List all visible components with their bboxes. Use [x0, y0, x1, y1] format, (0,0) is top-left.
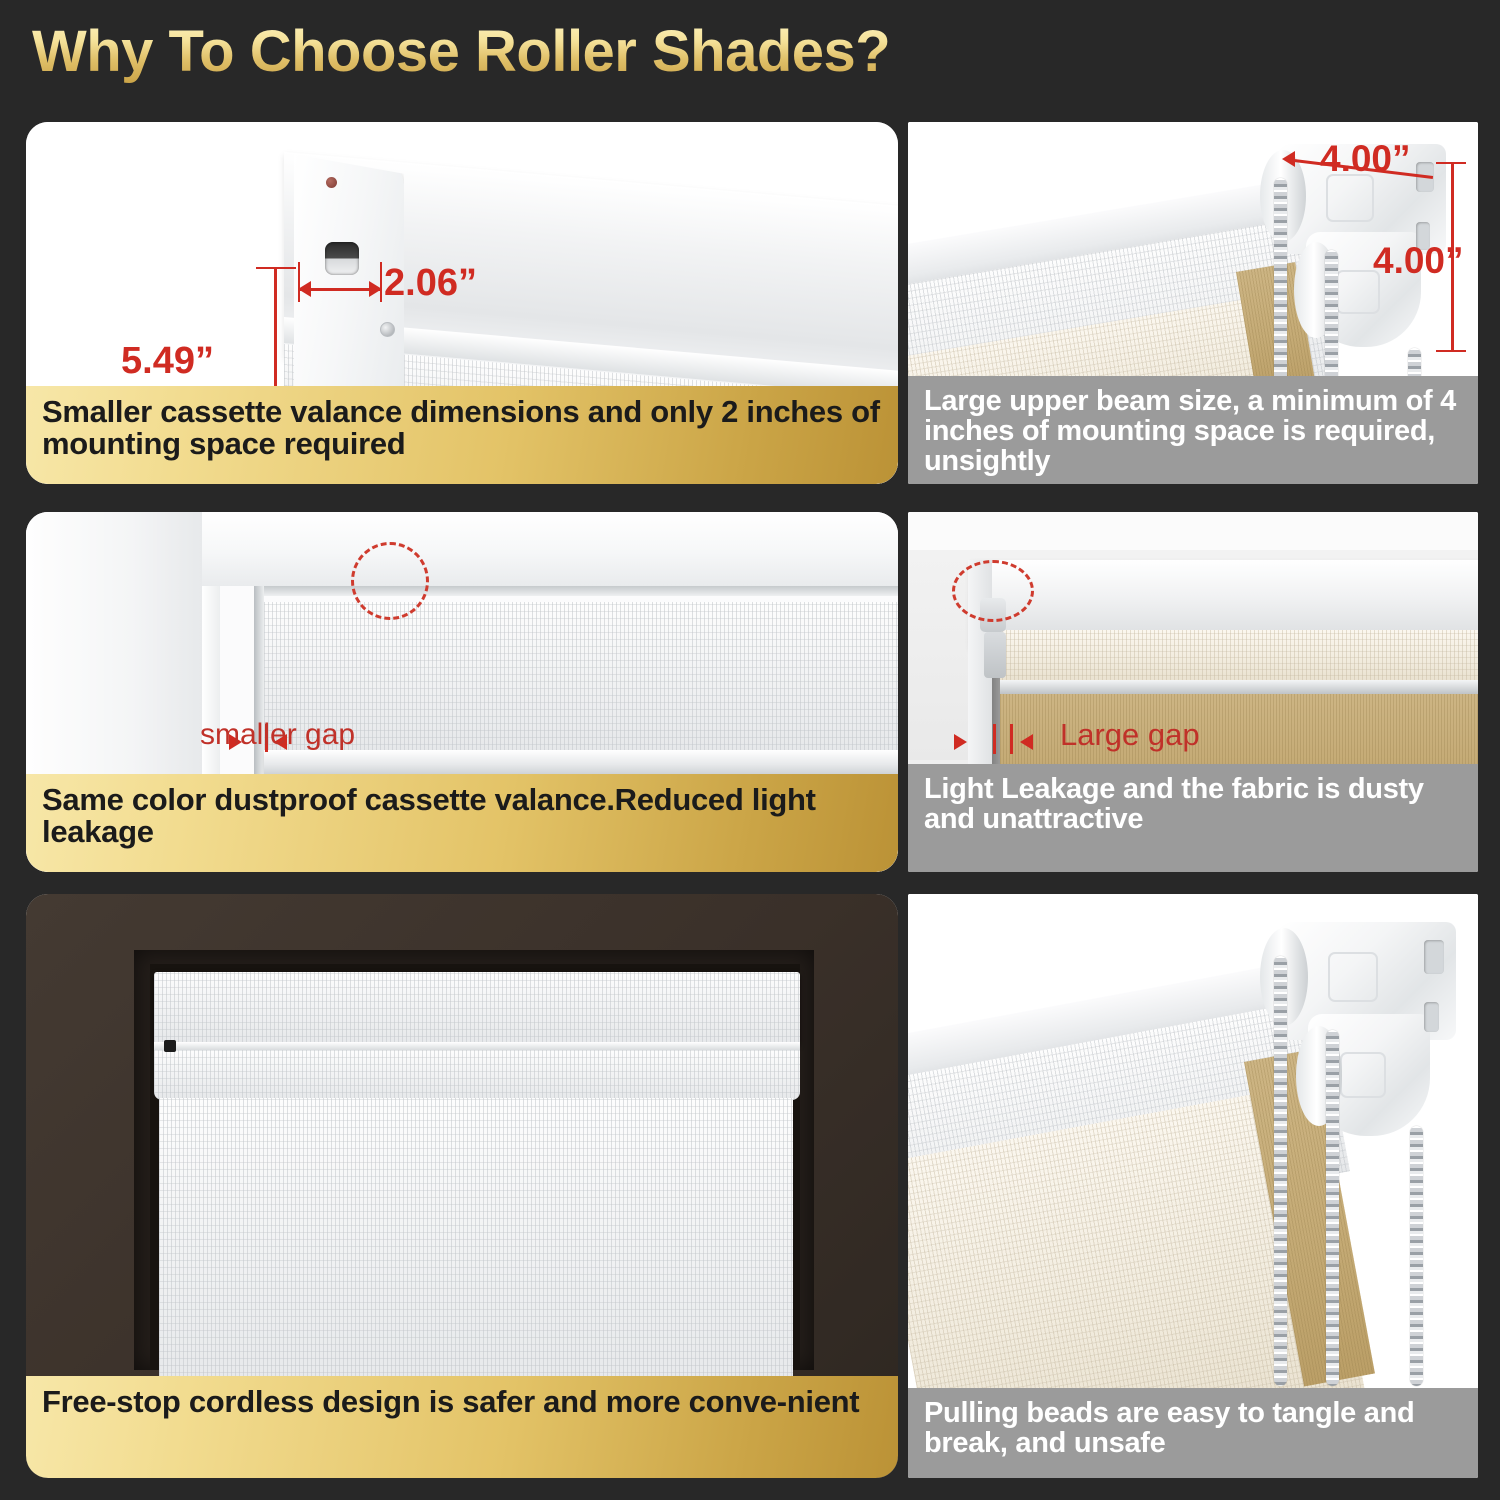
large-gap-tick-b: [1010, 724, 1013, 754]
caption-cordless-design: Free-stop cordless design is safer and m…: [26, 1376, 898, 1478]
bead-chain: [1326, 1030, 1339, 1386]
beam-height-tick-top: [1436, 162, 1466, 164]
beam-height-dimension-label: 4.00”: [1373, 240, 1464, 282]
caption-pulling-beads: Pulling beads are easy to tangle and bre…: [908, 1388, 1478, 1478]
height-dimension-label: 5.49”: [121, 340, 214, 383]
beam-height-tick-bottom: [1436, 350, 1466, 352]
width-dim-arrow-right: [369, 281, 382, 297]
panel-cassette-valance: 2.06” 5.49” Smaller cassette valance dim…: [26, 122, 898, 484]
width-dimension-label: 2.06”: [384, 262, 477, 305]
bead-chain: [1325, 250, 1338, 392]
caption-light-leakage: Light Leakage and the fabric is dusty an…: [908, 764, 1478, 872]
bead-chain: [1410, 1126, 1423, 1386]
page-title: Why To Choose Roller Shades?: [32, 18, 890, 85]
infographic-root: Why To Choose Roller Shades?: [0, 0, 1500, 1500]
beam-width-dimension-label: 4.00”: [1320, 138, 1411, 180]
panel-large-upper-beam: 4.00” 4.00” Large upper beam size, a min…: [908, 122, 1478, 484]
panel-pulling-beads: Pulling beads are easy to tangle and bre…: [908, 894, 1478, 1478]
smaller-gap-label: smaller gap: [200, 718, 355, 752]
large-gap-tick-a: [993, 724, 996, 754]
bead-chain: [1274, 956, 1287, 1386]
beam-width-arrow-left: [1282, 151, 1295, 167]
panel-dustproof-valance: smaller gap Same color dustproof cassett…: [26, 512, 898, 872]
panel-light-leakage: Large gap Light Leakage and the fabric i…: [908, 512, 1478, 872]
height-dim-tick-top: [256, 267, 296, 269]
caption-cassette-valance: Smaller cassette valance dimensions and …: [26, 386, 898, 484]
caption-large-upper-beam: Large upper beam size, a minimum of 4 in…: [908, 376, 1478, 484]
large-gap-label: Large gap: [1060, 717, 1200, 753]
highlight-circle-gap: [351, 542, 429, 620]
highlight-circle-gap: [952, 560, 1034, 622]
bead-chain: [1274, 178, 1287, 392]
width-dim-arrow-left: [298, 281, 311, 297]
caption-dustproof-valance: Same color dustproof cassette valance.Re…: [26, 774, 898, 872]
large-gap-arrow-left: [954, 734, 967, 750]
panel-cordless-design: Free-stop cordless design is safer and m…: [26, 894, 898, 1478]
large-gap-arrow-right: [1020, 734, 1033, 750]
